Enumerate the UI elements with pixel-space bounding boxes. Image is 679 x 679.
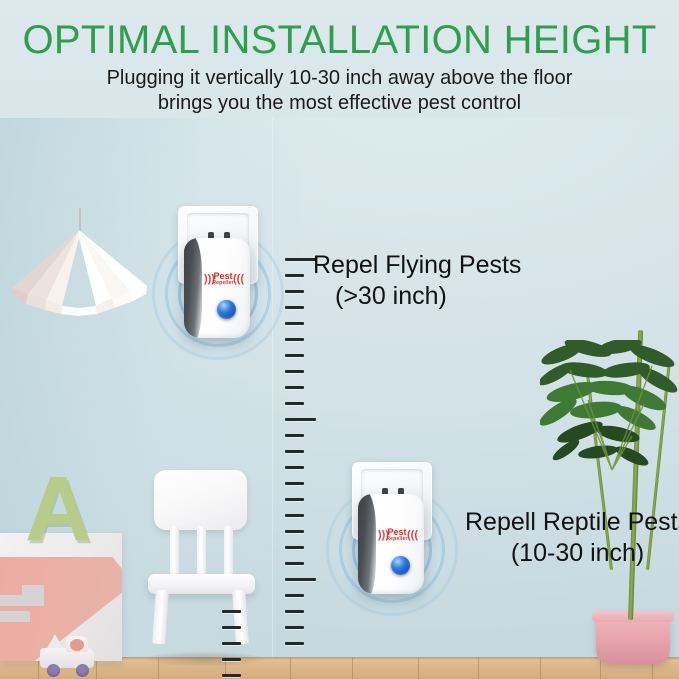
ruler-tick-minor (285, 466, 304, 469)
ruler-tick-minor (222, 626, 241, 629)
lower-logo-wave-right: ((( (407, 530, 418, 541)
lower-logo-sub: Repeller (386, 537, 408, 542)
ruler-tick-major (285, 418, 316, 421)
toybox-block-2 (0, 611, 30, 622)
lower-device-side-stripe (358, 494, 376, 594)
toy-car-wheel-right (76, 664, 89, 677)
floor-plank-line (352, 657, 353, 679)
lamp-shade-icon (8, 228, 151, 316)
floor-plank-line (478, 657, 479, 679)
callout-upper: Repel Flying Pests (>30 inch) (313, 250, 521, 312)
upper-device-led-indicator (217, 300, 236, 319)
header-banner: OPTIMAL INSTALLATION HEIGHT Plugging it … (0, 0, 679, 118)
floor-plank-line (158, 657, 159, 679)
ruler-tick-minor (285, 626, 304, 629)
ruler-tick-major (285, 258, 316, 261)
ruler-tick-minor (285, 514, 304, 517)
page-title: OPTIMAL INSTALLATION HEIGHT (0, 0, 679, 62)
lower-repeller-assembly: ))) Pest Repeller ((( (326, 462, 458, 614)
potted-plant-foliage (540, 340, 679, 480)
lower-device-led-indicator (391, 556, 410, 575)
ruler-tick-major (285, 578, 316, 581)
upper-pest-repeller-device: ))) Pest Repeller ((( (184, 238, 250, 338)
ruler-tick-minor (285, 274, 304, 277)
lower-pest-repeller-device: ))) Pest Repeller ((( (358, 494, 424, 594)
callout-lower-line1: Repell Reptile Pests (465, 507, 679, 538)
ruler-tick-minor (285, 402, 304, 405)
floor-plank-line (418, 657, 419, 679)
ruler-tick-minor (285, 546, 304, 549)
callout-lower-line2: (10-30 inch) (465, 538, 679, 569)
floor-plank-line (540, 657, 541, 679)
page-subtitle: Plugging it vertically 10-30 inch away a… (0, 62, 679, 116)
ruler-tick-minor (222, 610, 241, 613)
subtitle-line-2: brings you the most effective pest contr… (0, 91, 679, 116)
ruler-tick-minor (285, 594, 304, 597)
ruler-tick-minor (285, 354, 304, 357)
ruler-tick-minor (285, 386, 304, 389)
upper-device-side-stripe (184, 238, 202, 338)
chair-spindle-2 (197, 526, 206, 578)
plant-leaves-icon (540, 340, 679, 480)
callout-upper-line1: Repel Flying Pests (313, 250, 521, 281)
ruler-tick-minor (222, 658, 241, 661)
chair-spindle-3 (224, 526, 233, 578)
upper-device-logo: Pest Repeller (212, 272, 234, 286)
callout-lower: Repell Reptile Pests (10-30 inch) (465, 507, 679, 569)
decor-letter-a: A (25, 463, 91, 555)
ruler-tick-minor (285, 562, 304, 565)
ruler-tick-minor (285, 306, 304, 309)
chair-backrest (154, 470, 247, 530)
ruler-tick-minor (285, 370, 304, 373)
toybox-block-1 (0, 595, 44, 606)
product-infographic: A (0, 0, 679, 679)
ruler-tick-minor (285, 450, 304, 453)
upper-repeller-assembly: ))) Pest Repeller ((( (152, 206, 284, 358)
subtitle-line-1: Plugging it vertically 10-30 inch away a… (0, 66, 679, 91)
chair-spindle-1 (170, 526, 179, 578)
ruler-tick-minor (285, 610, 304, 613)
ruler-tick-minor (285, 482, 304, 485)
ruler-tick-minor (285, 338, 304, 341)
height-ruler-secondary (222, 610, 256, 679)
ruler-tick-minor (285, 642, 304, 645)
ruler-tick-minor (222, 674, 241, 677)
lower-device-logo: Pest Repeller (386, 528, 408, 542)
toy-car-wheel-left (47, 664, 60, 677)
ruler-tick-minor (285, 290, 304, 293)
toybox-block-3 (22, 585, 44, 595)
wall-seam (272, 100, 273, 679)
ruler-tick-minor (285, 498, 304, 501)
toy-car-window (70, 639, 84, 651)
height-ruler-main (285, 258, 319, 662)
ruler-tick-minor (285, 530, 304, 533)
upper-logo-sub: Repeller (212, 281, 234, 286)
upper-logo-wave-right: ((( (233, 274, 244, 285)
ruler-tick-minor (285, 322, 304, 325)
ruler-tick-minor (285, 434, 304, 437)
ruler-tick-minor (222, 642, 241, 645)
callout-upper-line2: (>30 inch) (313, 281, 521, 312)
